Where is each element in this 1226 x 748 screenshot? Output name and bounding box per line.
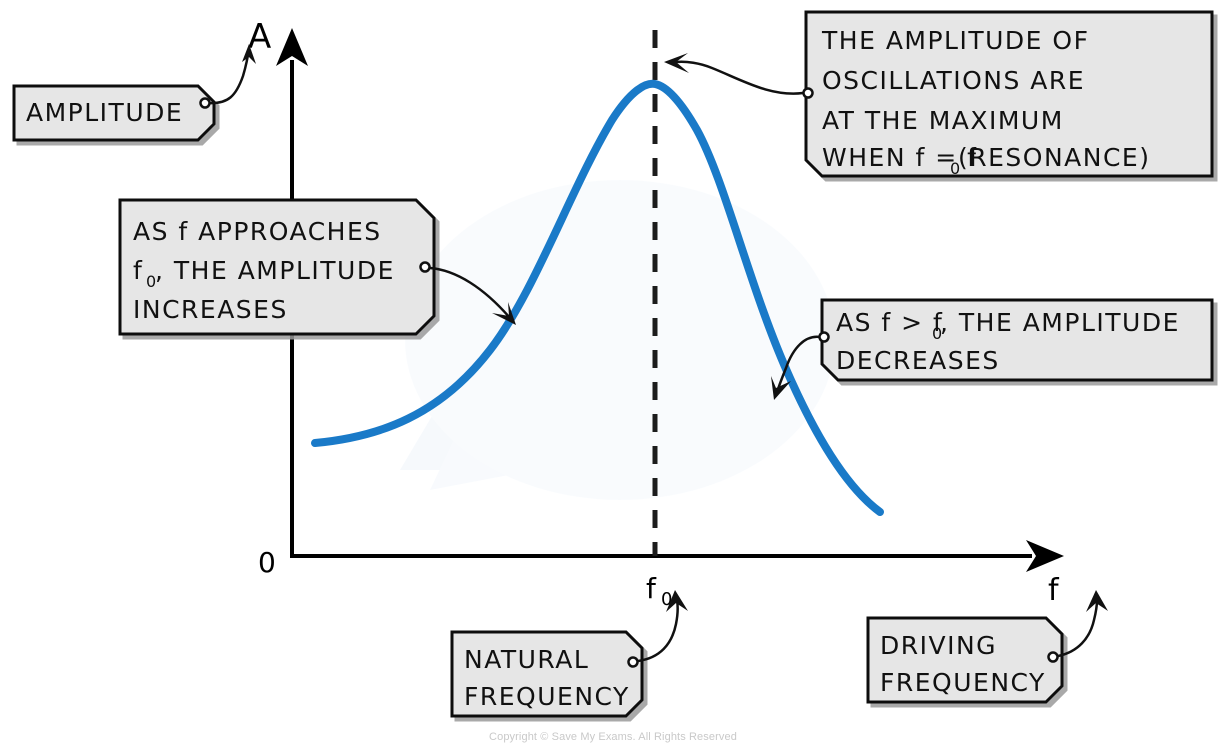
svg-text:, THE AMPLITUDE: , THE AMPLITUDE (940, 308, 1180, 337)
callout-driving-frequency-line1: DRIVING (880, 631, 997, 660)
resonance-tick-label: f 0 (646, 572, 672, 610)
callout-maximum-leader (676, 62, 803, 94)
callout-amplitude-anchor (201, 99, 210, 108)
callout-natural-frequency[interactable]: NATURAL FREQUENCY (452, 590, 688, 716)
svg-text:f: f (646, 572, 657, 605)
callout-approaches-line1: AS f APPROACHES (133, 217, 382, 246)
callout-maximum-arrowhead (664, 53, 689, 73)
callout-natural-frequency-line1: NATURAL (464, 645, 589, 674)
callout-amplitude-line1: AMPLITUDE (26, 98, 183, 127)
callout-driving-frequency-anchor (1049, 653, 1058, 662)
callout-maximum-line2: OSCILLATIONS ARE (822, 66, 1085, 95)
svg-text:, THE AMPLITUDE: , THE AMPLITUDE (155, 256, 395, 285)
callout-amplitude-leader (209, 48, 249, 103)
diagram-page: A 0 f f 0 AMPLITUDE AS f APPROACHES f 0 (0, 0, 1226, 748)
origin-label: 0 (258, 546, 276, 579)
callout-approaches-line3: INCREASES (133, 295, 288, 324)
callout-approaches-anchor (421, 263, 430, 272)
callout-maximum-line3: AT THE MAXIMUM (822, 106, 1064, 135)
callout-maximum[interactable]: THE AMPLITUDE OF OSCILLATIONS ARE AT THE… (664, 12, 1212, 178)
resonance-diagram: A 0 f f 0 AMPLITUDE AS f APPROACHES f 0 (0, 0, 1226, 748)
svg-text:(RESONANCE): (RESONANCE) (958, 143, 1150, 172)
callout-driving-frequency[interactable]: DRIVING FREQUENCY (868, 590, 1108, 702)
background-watermark (400, 180, 835, 500)
svg-text:AS f > f: AS f > f (836, 308, 943, 337)
copyright-footer: Copyright © Save My Exams. All Rights Re… (0, 731, 1226, 743)
callout-amplitude[interactable]: AMPLITUDE (14, 44, 256, 140)
callout-decreases-line2: DECREASES (836, 346, 1000, 375)
callout-decreases-anchor (820, 333, 829, 342)
y-axis-label: A (248, 17, 271, 57)
callout-driving-frequency-leader (1058, 600, 1097, 656)
x-axis-label: f (1048, 573, 1060, 608)
callout-natural-frequency-anchor (629, 658, 638, 667)
callout-maximum-line1: THE AMPLITUDE OF (821, 26, 1089, 55)
callout-decreases[interactable]: AS f > f 0 , THE AMPLITUDE DECREASES (771, 300, 1212, 400)
callout-natural-frequency-line2: FREQUENCY (464, 682, 630, 711)
callout-maximum-anchor (804, 89, 813, 98)
svg-text:f: f (133, 256, 143, 285)
callout-driving-frequency-line2: FREQUENCY (880, 668, 1046, 697)
